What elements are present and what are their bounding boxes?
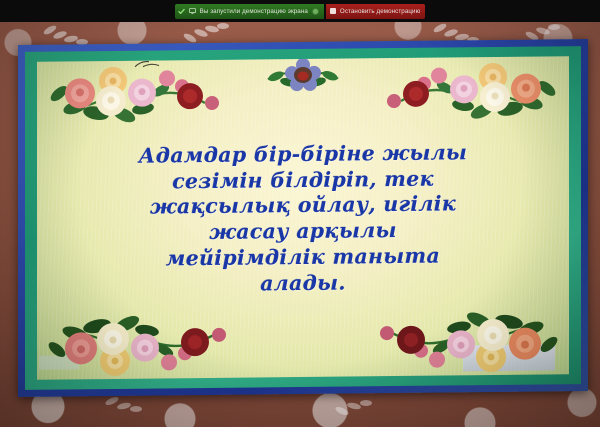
poster-artwork: Адамдар бір-біріне жылы сезімін білдіріп…	[37, 56, 569, 380]
stop-sharing-button[interactable]: Остановить демонстрацию	[326, 4, 425, 19]
shared-screen-view: Адамдар бір-біріне жылы сезімін білдіріп…	[0, 0, 600, 427]
screen-share-notification-bar: Вы запустили демонстрацию экрана Останов…	[0, 0, 600, 22]
poster-text-block: Адамдар бір-біріне жылы сезімін білдіріп…	[37, 139, 569, 300]
rose-cluster-icon	[39, 56, 224, 130]
rose-cluster-icon	[382, 56, 567, 126]
wallpaper-leaf-icon	[330, 393, 382, 423]
sharing-status-pill: Вы запустили демонстрацию экрана	[175, 4, 324, 19]
sharing-status-label: Вы запустили демонстрацию экрана	[200, 8, 308, 15]
stop-square-icon	[330, 8, 336, 14]
stop-sharing-label: Остановить демонстрацию	[340, 8, 420, 15]
poster-light-reflection-secondary	[39, 355, 79, 369]
poster-light-reflection	[463, 344, 555, 371]
checkmark-icon	[178, 8, 185, 15]
monitor-icon	[189, 8, 196, 14]
blue-flower-medallion-icon	[266, 56, 340, 97]
poster-text-line-6: алады.	[47, 268, 559, 299]
picture-frame-mat: Адамдар бір-біріне жылы сезімін білдіріп…	[25, 46, 581, 390]
picture-frame: Адамдар бір-біріне жылы сезімін білдіріп…	[18, 39, 588, 397]
status-circle-icon	[312, 8, 319, 15]
